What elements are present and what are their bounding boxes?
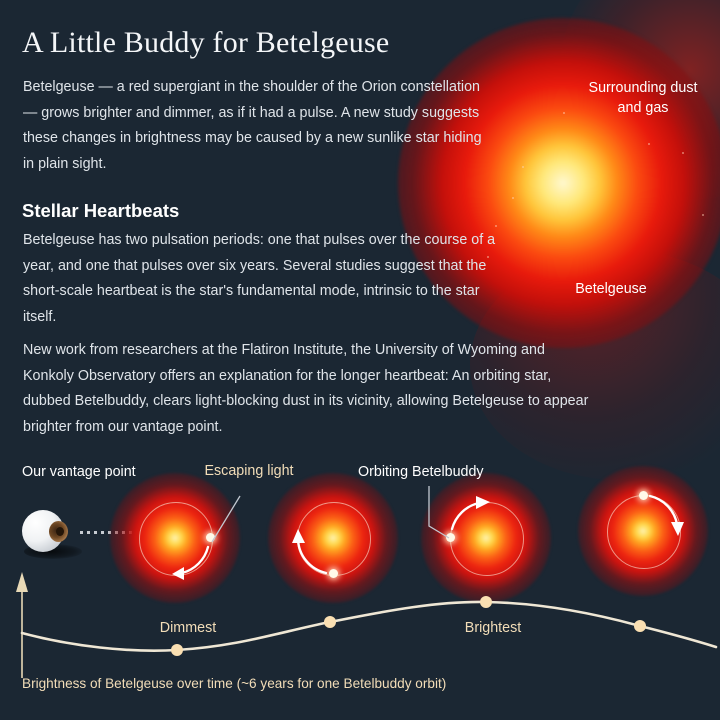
chart-annotation-brightest: Brightest (448, 619, 538, 638)
y-axis-arrow-icon (16, 572, 28, 592)
chart-caption: Brightness of Betelgeuse over time (~6 y… (22, 676, 446, 691)
dust-speck (522, 166, 524, 168)
label-orbiting-betelbuddy: Orbiting Betelbuddy (358, 463, 538, 482)
chart-annotation-dimmest: Dimmest (143, 619, 233, 638)
chart-point-dimmest (171, 644, 183, 656)
study-paragraph: New work from researchers at the Flatiro… (23, 338, 593, 440)
label-surrounding-dust-and-gas: Surrounding dust and gas (578, 78, 708, 118)
dust-speck (702, 214, 704, 216)
dust-speck (512, 197, 514, 199)
section-heading-stellar-heartbeats: Stellar Heartbeats (22, 200, 179, 222)
dust-speck (682, 152, 684, 154)
brightness-curve (22, 602, 716, 651)
dust-speck (648, 143, 650, 145)
dust-speck (495, 225, 497, 227)
dust-speck (563, 112, 565, 114)
chart-point-brightest (480, 596, 492, 608)
chart-point (634, 620, 646, 632)
label-betelgeuse: Betelgeuse (521, 279, 701, 299)
intro-paragraph: Betelgeuse — a red supergiant in the sho… (23, 75, 493, 177)
page-title: A Little Buddy for Betelgeuse (22, 26, 389, 60)
brightness-over-time-chart (0, 560, 720, 720)
chart-point (324, 616, 336, 628)
heartbeats-paragraph: Betelgeuse has two pulsation periods: on… (23, 228, 503, 330)
infographic-canvas: A Little Buddy for Betelgeuse Betelgeuse… (0, 0, 720, 720)
